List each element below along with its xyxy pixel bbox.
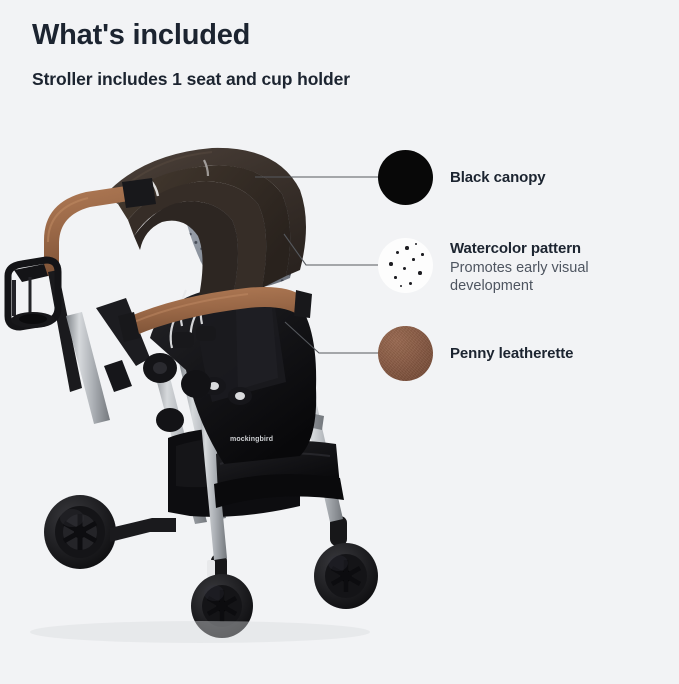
speck [400,285,402,287]
product-illustration: mockingbird [0,120,400,679]
ground-shadow [30,621,370,643]
black-canopy-swatch [378,150,433,205]
penny-leatherette-swatch [378,326,433,381]
header: What's included Stroller includes 1 seat… [32,20,592,90]
leather-grain-texture [378,326,433,381]
page-subtitle: Stroller includes 1 seat and cup holder [32,50,592,90]
speck [418,271,422,275]
speck [421,253,424,256]
speck [415,243,417,245]
stroller-graphic: mockingbird [0,120,400,679]
speck [405,246,409,250]
brand-logo: mockingbird [230,436,273,443]
front-wheel-right [314,516,378,609]
canopy [104,148,306,310]
callout-penny-leatherette-text: Penny leatherette [450,345,573,362]
page-title: What's included [32,20,592,50]
speck [394,276,397,279]
speck [409,282,412,285]
speck [396,251,399,254]
rear-wheel [44,495,116,569]
speck [389,262,393,266]
callout-watercolor-pattern-description: Promotes early visual development [450,257,625,296]
callout-black-canopy-title: Black canopy [450,169,546,186]
speck [403,267,406,270]
rear-axle-arm [110,518,176,542]
watercolor-pattern-swatch [378,238,433,293]
callout-penny-leatherette-title: Penny leatherette [450,345,573,362]
callout-watercolor-pattern-title: Watercolor pattern [450,240,625,257]
speck [412,258,415,261]
callout-watercolor-pattern-text: Watercolor pattern Promotes early visual… [450,240,625,296]
callout-black-canopy-text: Black canopy [450,169,546,186]
handle-joint [122,178,156,208]
infographic-page: What's included Stroller includes 1 seat… [0,0,679,679]
